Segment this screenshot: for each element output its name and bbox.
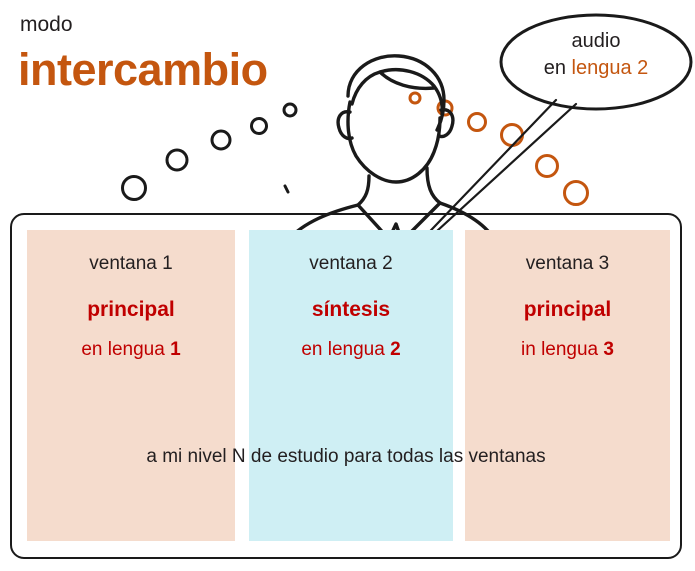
window-language-2-prefix: en lengua — [301, 339, 390, 360]
thought-bubbles-black — [123, 104, 297, 200]
thought-bubbles-orange — [410, 93, 588, 205]
window-column-2[interactable]: ventana 2 síntesis en lengua 2 — [249, 230, 453, 541]
window-language-2: en lengua 2 — [249, 340, 453, 359]
speech-bubble-text: audio en lengua 2 — [508, 28, 684, 82]
window-label-3: ventana 3 — [465, 254, 670, 273]
window-language-3-number: 3 — [603, 339, 614, 360]
panel-footnote: a mi nivel N de estudio para todas las v… — [10, 447, 682, 466]
window-language-1-prefix: en lengua — [81, 339, 170, 360]
bubble-line-2-accent: lengua 2 — [572, 57, 649, 79]
window-language-3: in lengua 3 — [465, 340, 670, 359]
window-language-1: en lengua 1 — [27, 340, 235, 359]
window-label-1: ventana 1 — [27, 254, 235, 273]
window-column-1[interactable]: ventana 1 principal en lengua 1 — [27, 230, 235, 541]
bubble-line-1: audio — [508, 28, 684, 55]
page-title: intercambio — [18, 47, 268, 92]
window-role-1: principal — [27, 299, 235, 320]
window-label-2: ventana 2 — [249, 254, 453, 273]
window-role-2: síntesis — [249, 299, 453, 320]
window-column-3[interactable]: ventana 3 principal in lengua 3 — [465, 230, 670, 541]
window-language-1-number: 1 — [170, 339, 181, 360]
window-role-3: principal — [465, 299, 670, 320]
mode-label: modo — [20, 14, 73, 35]
window-language-2-number: 2 — [390, 339, 401, 360]
bubble-line-2-prefix: en — [544, 57, 572, 79]
window-language-3-prefix: in lengua — [521, 339, 603, 360]
bubble-line-2: en lengua 2 — [508, 55, 684, 82]
